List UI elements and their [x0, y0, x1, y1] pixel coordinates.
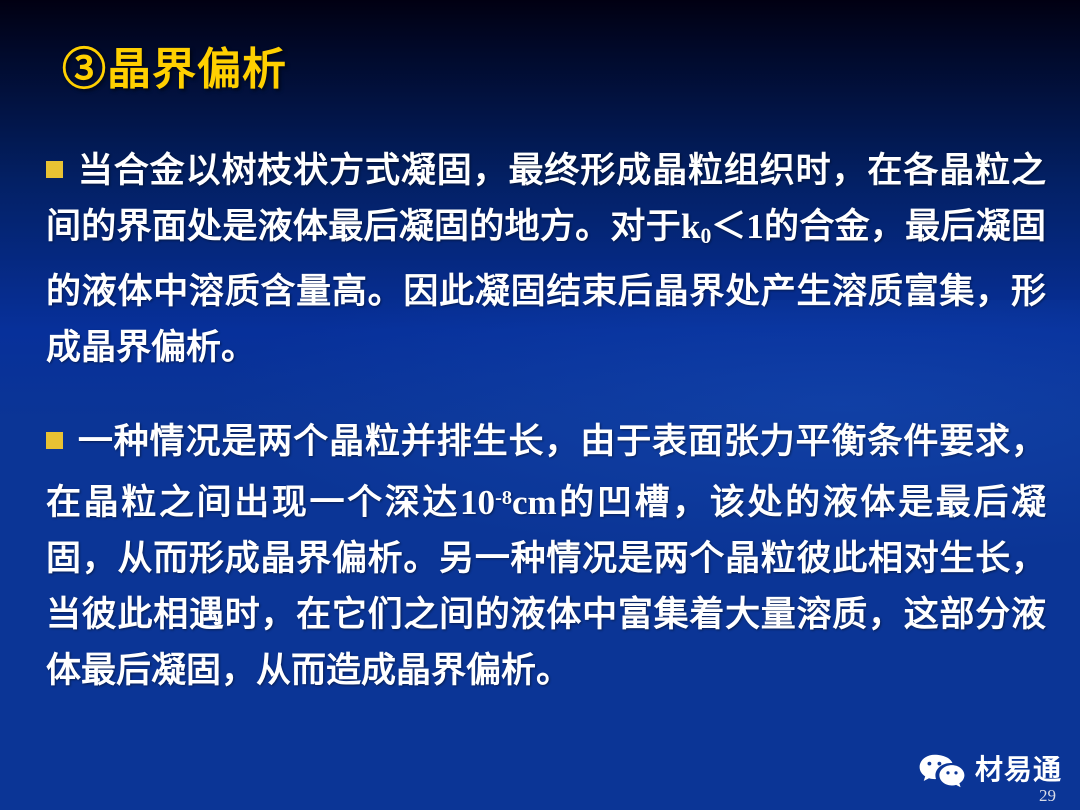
page-title: ③晶界偏析 — [62, 48, 287, 92]
bullet-paragraph: 一种情况是两个晶粒并排生长，由于表面张力平衡条件要求，在晶粒之间出现一个深达10… — [46, 414, 1046, 699]
slide-body: 当合金以树枝状方式凝固，最终形成晶粒组织时，在各晶粒之间的界面处是液体最后凝固的… — [46, 143, 1046, 699]
footer-branding: 材易通 — [919, 754, 1062, 788]
bullet-paragraph: 当合金以树枝状方式凝固，最终形成晶粒组织时，在各晶粒之间的界面处是液体最后凝固的… — [46, 143, 1046, 376]
subscript-zero: 0 — [700, 224, 711, 248]
page-number: 29 — [1039, 787, 1056, 804]
square-bullet-icon — [46, 432, 63, 449]
brand-name: 材易通 — [975, 757, 1062, 785]
superscript-exponent: -8 — [495, 487, 512, 509]
square-bullet-icon — [46, 161, 63, 178]
slide-canvas: ③晶界偏析 当合金以树枝状方式凝固，最终形成晶粒组织时，在各晶粒之间的界面处是液… — [0, 0, 1080, 810]
wechat-icon — [919, 754, 965, 788]
